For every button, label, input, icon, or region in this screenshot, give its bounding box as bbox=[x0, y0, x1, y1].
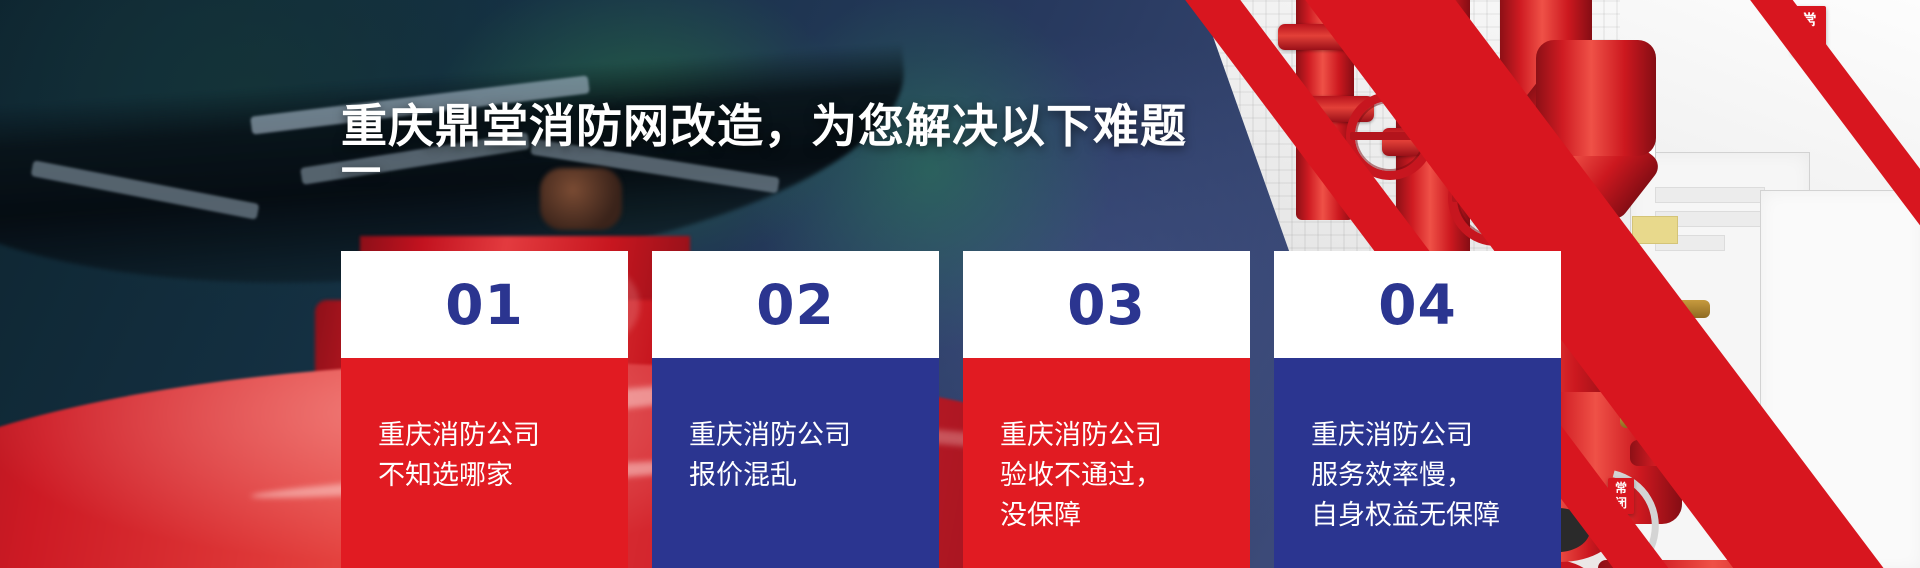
branch-pipe bbox=[1630, 440, 1740, 466]
warning-label bbox=[1632, 216, 1678, 244]
control-cabinet-secondary bbox=[1760, 190, 1920, 568]
pain-point-card-04[interactable]: 04 重庆消防公司 服务效率慢， 自身权益无保障 bbox=[1274, 251, 1561, 568]
pain-point-card-02[interactable]: 02 重庆消防公司 报价混乱 bbox=[652, 251, 939, 568]
card-text: 重庆消防公司 不知选哪家 bbox=[341, 358, 628, 568]
brass-fitting bbox=[1600, 300, 1710, 318]
card-number: 02 bbox=[652, 251, 939, 358]
brass-fitting bbox=[1620, 412, 1716, 428]
handwheel-spoke bbox=[1452, 194, 1542, 202]
page-title: 重庆鼎堂消防网改造，为您解决以下难题 bbox=[341, 90, 1187, 156]
valve-tag: 常 闭 bbox=[1608, 478, 1634, 514]
pain-point-card-list: 01 重庆消防公司 不知选哪家 02 重庆消防公司 报价混乱 03 重庆消防公司… bbox=[341, 251, 1561, 568]
strainer-housing bbox=[1536, 40, 1656, 156]
pipe-flange bbox=[1278, 24, 1374, 50]
title-underline-dash: 一 bbox=[341, 152, 381, 192]
promo-banner: 常 开 常 开 常 闭 常 闭 重庆鼎堂消防网改造，为您解决以下难题 一 01 … bbox=[0, 0, 1920, 568]
card-number: 01 bbox=[341, 251, 628, 358]
pain-point-card-01[interactable]: 01 重庆消防公司 不知选哪家 bbox=[341, 251, 628, 568]
card-text: 重庆消防公司 报价混乱 bbox=[652, 358, 939, 568]
card-number: 03 bbox=[963, 251, 1250, 358]
cabinet-vent bbox=[1655, 187, 1765, 203]
card-text: 重庆消防公司 验收不通过， 没保障 bbox=[963, 358, 1250, 568]
valve-tag: 常 开 bbox=[1792, 6, 1826, 54]
valve-nut bbox=[540, 168, 622, 230]
handwheel-spoke bbox=[1350, 132, 1432, 140]
card-number: 04 bbox=[1274, 251, 1561, 358]
floor-pipe bbox=[1598, 560, 1848, 568]
card-text: 重庆消防公司 服务效率慢， 自身权益无保障 bbox=[1274, 358, 1561, 568]
pain-point-card-03[interactable]: 03 重庆消防公司 验收不通过， 没保障 bbox=[963, 251, 1250, 568]
